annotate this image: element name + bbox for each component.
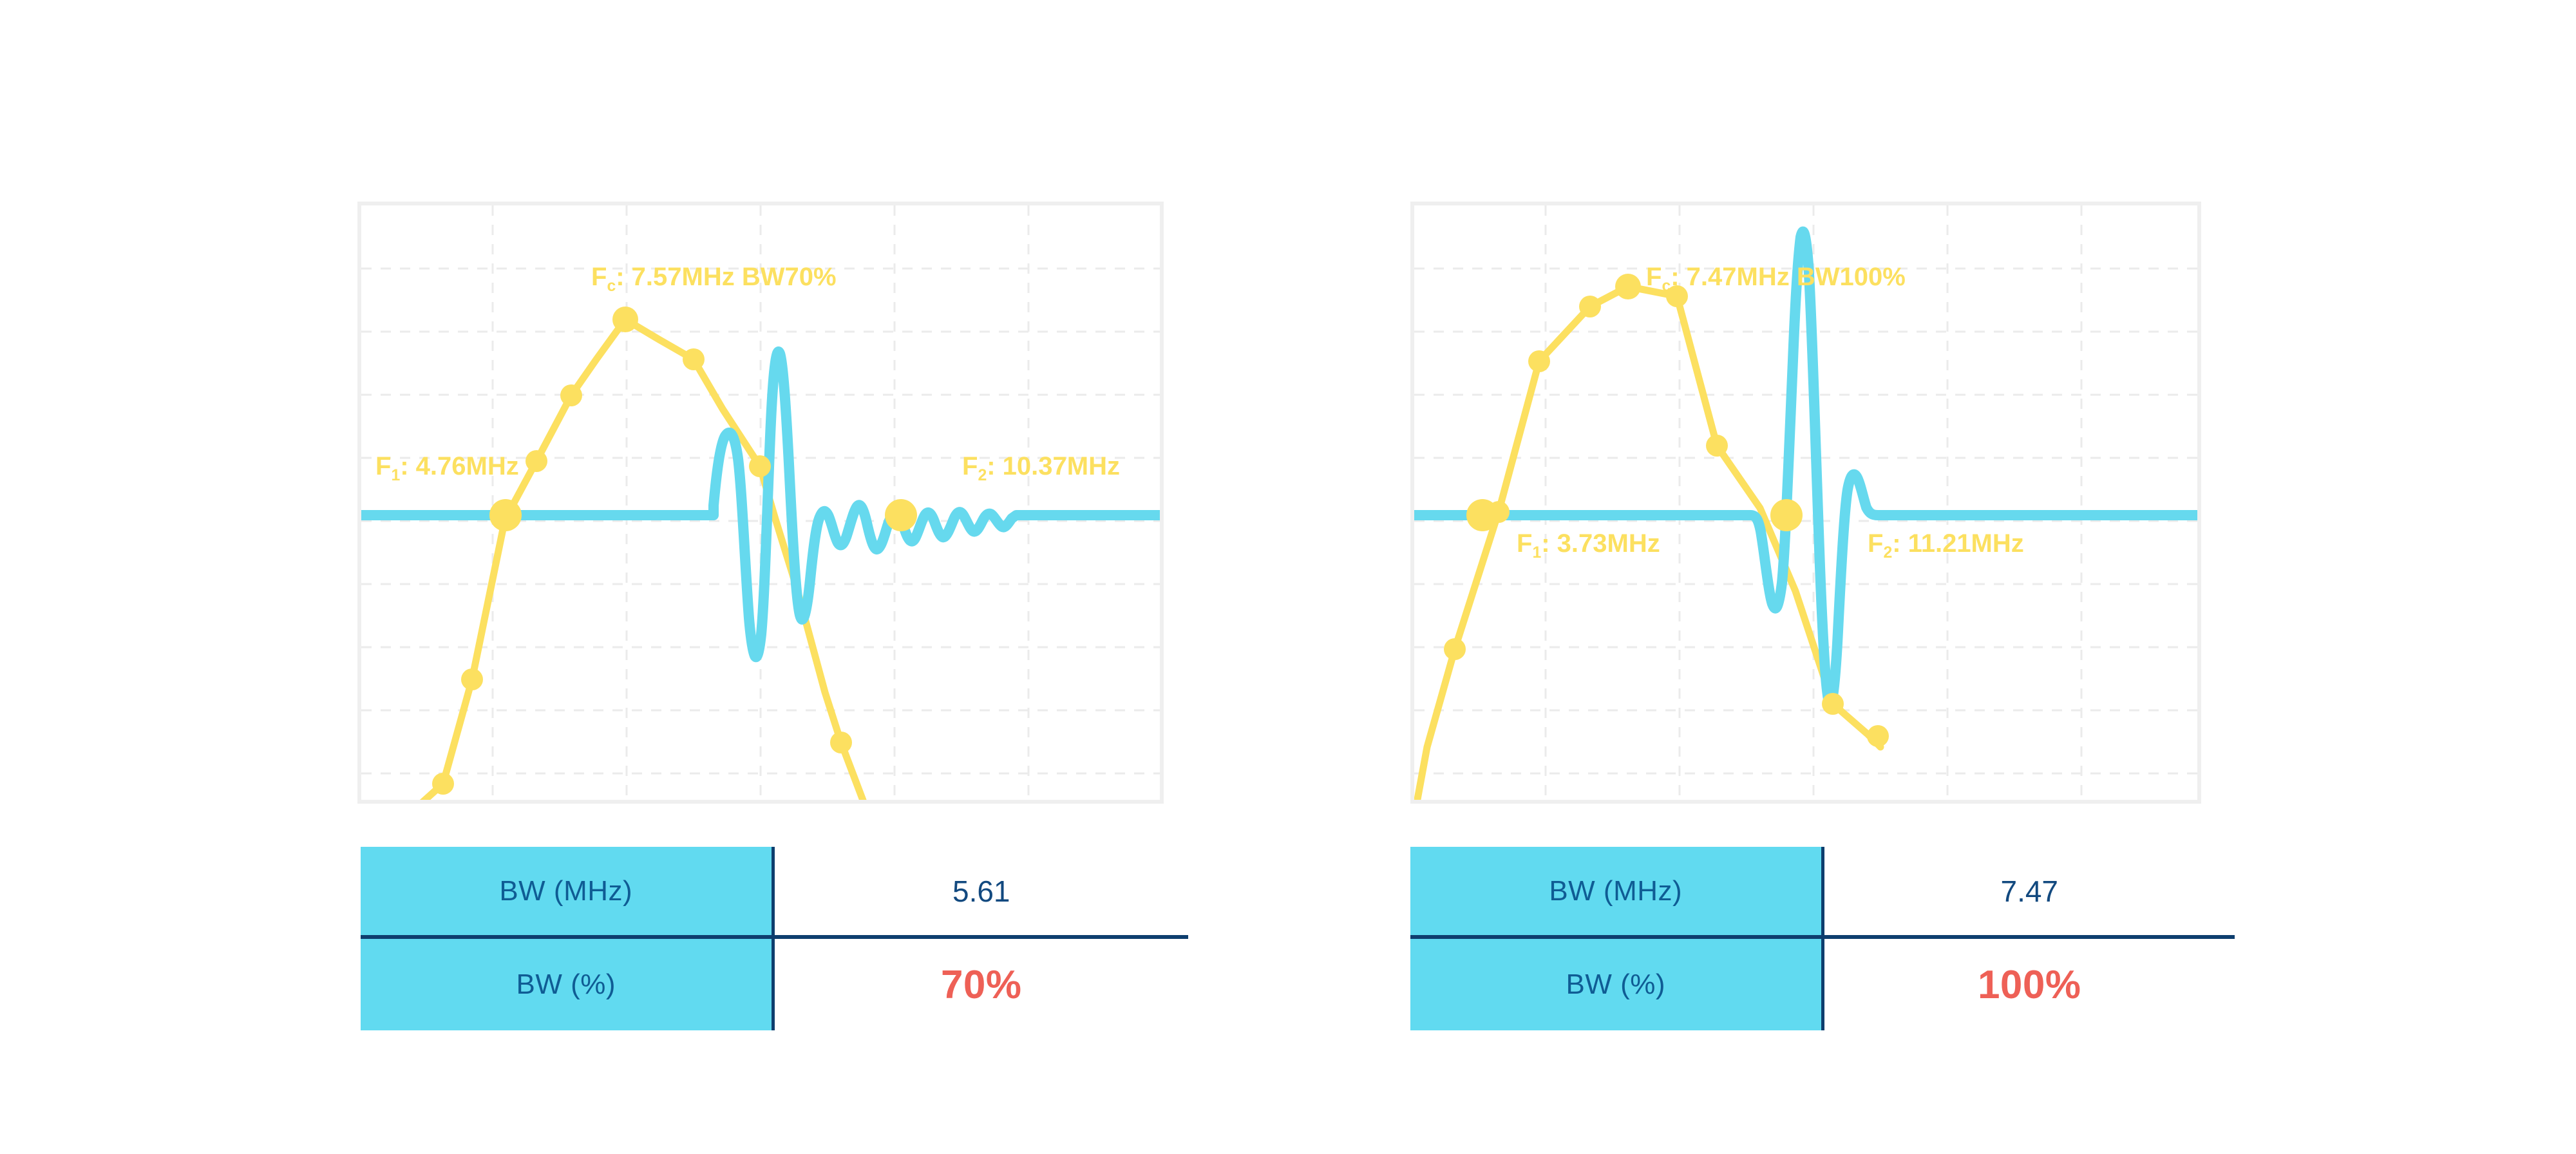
right-bw-pct-label: BW (%) xyxy=(1410,937,1823,1030)
right-pulse-waveform xyxy=(1410,232,2201,705)
table-row: BW (MHz) 7.47 xyxy=(1410,847,2235,937)
right-bw-mhz-value: 7.47 xyxy=(1823,847,2235,937)
right-f2-subscript: 2 xyxy=(1883,544,1892,562)
right-bw-mhz-label: BW (MHz) xyxy=(1410,847,1823,937)
figure-root: Fc: 7.57MHz BW70% F1: 4.76MHz F2: 10.37M… xyxy=(0,0,2576,1154)
right-fc-subscript: c xyxy=(1662,278,1671,295)
right-f2-label: F2: 11.21MHz xyxy=(1868,529,2024,562)
table-row: BW (%) 100% xyxy=(1410,937,2235,1030)
right-bw-pct-value: 100% xyxy=(1823,937,2235,1030)
right-f1-label: F1: 3.73MHz xyxy=(1517,529,1660,562)
right-bw-table: BW (MHz) 7.47 BW (%) 100% xyxy=(1410,847,2235,1030)
right-f1-marker xyxy=(1466,499,1499,531)
right-f1-subscript: 1 xyxy=(1532,544,1541,562)
right-fc-label: Fc: 7.47MHz BW100% xyxy=(1646,263,1906,296)
right-f2-marker xyxy=(1770,499,1803,531)
